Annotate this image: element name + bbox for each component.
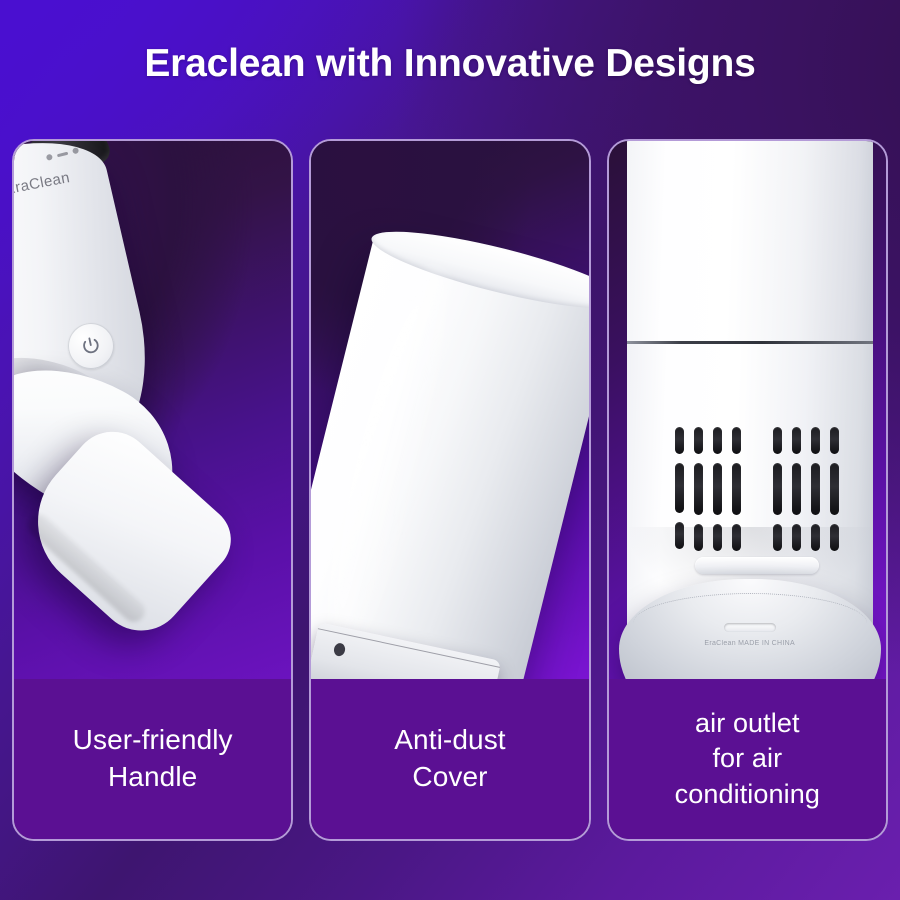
- page-title: Eraclean with Innovative Designs: [144, 44, 755, 83]
- caption-line: Cover: [394, 759, 505, 796]
- vent-slot: [675, 463, 684, 513]
- vent-slot: [732, 427, 741, 454]
- vent-slot: [713, 427, 722, 454]
- vent-slot: [694, 427, 703, 454]
- vent-slot: [830, 427, 839, 454]
- vent-slot: [675, 522, 684, 549]
- air-vent-grille-left: [675, 427, 741, 551]
- poster-root: Eraclean with Innovative Designs EraClea…: [0, 0, 900, 900]
- dust-cover-illustration: [311, 229, 588, 679]
- caption-text-air-outlet: air outlet for air conditioning: [675, 706, 820, 813]
- vent-slot: [732, 463, 741, 515]
- vent-slot: [732, 524, 741, 551]
- feature-card-handle[interactable]: EraClean User-friendly Handle: [12, 139, 293, 841]
- handheld-vacuum-photo: EraClean: [14, 141, 291, 679]
- carry-handle-tab: [695, 557, 819, 574]
- vent-column: [694, 427, 703, 551]
- caption-line: air outlet: [675, 706, 820, 742]
- feature-card-grid: EraClean User-friendly Handle: [12, 139, 888, 837]
- vent-column: [732, 427, 741, 551]
- anti-dust-cover-photo: [311, 141, 588, 679]
- vent-column: [773, 427, 782, 551]
- vent-slot: [811, 524, 820, 551]
- caption-panel-handle: User-friendly Handle: [14, 679, 291, 839]
- unit-upper-body: [627, 141, 873, 341]
- vent-column: [830, 427, 839, 551]
- vent-slot: [694, 463, 703, 515]
- vent-slot: [713, 463, 722, 515]
- caption-panel-cover: Anti-dust Cover: [311, 679, 588, 839]
- caption-text-handle: User-friendly Handle: [73, 722, 233, 796]
- caption-line: for air: [675, 741, 820, 777]
- vent-slot: [792, 463, 801, 515]
- caption-line: User-friendly: [73, 722, 233, 759]
- vent-slot: [830, 463, 839, 515]
- vent-slot: [694, 524, 703, 551]
- air-purifier-illustration: EraClean MADE IN CHINA: [627, 141, 873, 679]
- vent-column: [792, 427, 801, 551]
- bottom-cap-label: EraClean MADE IN CHINA: [704, 639, 795, 648]
- vent-slot: [792, 524, 801, 551]
- base-dot-icon: [333, 642, 346, 657]
- vent-slot: [713, 524, 722, 551]
- air-vent-grille-right: [773, 427, 839, 551]
- air-outlet-photo: EraClean MADE IN CHINA: [609, 141, 886, 679]
- caption-line: conditioning: [675, 777, 820, 813]
- vent-slot: [792, 427, 801, 454]
- vent-column: [675, 427, 684, 551]
- vent-slot: [830, 524, 839, 551]
- vent-column: [713, 427, 722, 551]
- title-bar: Eraclean with Innovative Designs: [0, 0, 900, 126]
- vent-slot: [773, 427, 782, 454]
- vent-slot: [773, 463, 782, 515]
- vent-slot: [675, 427, 684, 454]
- vent-slot: [773, 524, 782, 551]
- bottom-vent-slot: [724, 623, 776, 632]
- caption-line: Anti-dust: [394, 722, 505, 759]
- caption-text-cover: Anti-dust Cover: [394, 722, 505, 796]
- vent-column: [811, 427, 820, 551]
- feature-card-air-outlet[interactable]: EraClean MADE IN CHINA air outlet for ai…: [607, 139, 888, 841]
- caption-panel-air-outlet: air outlet for air conditioning: [609, 679, 886, 839]
- vent-slot: [811, 463, 820, 515]
- caption-line: Handle: [73, 759, 233, 796]
- feature-card-cover[interactable]: Anti-dust Cover: [309, 139, 590, 841]
- vent-slot: [811, 427, 820, 454]
- vacuum-handle-illustration: EraClean: [14, 141, 248, 679]
